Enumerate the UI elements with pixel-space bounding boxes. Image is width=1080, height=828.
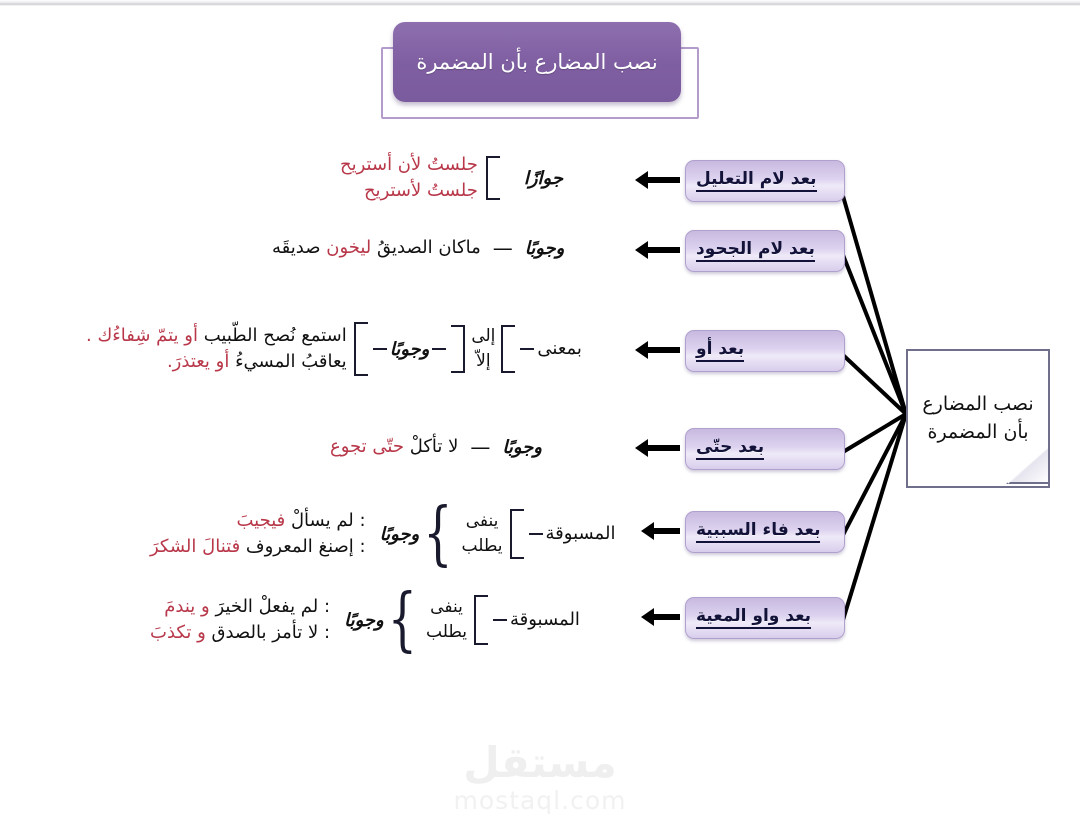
brace-icon: }	[423, 503, 452, 565]
example-part-black: لا تأمز بالصدق	[212, 622, 319, 643]
example-waw-2: : لا تأمز بالصدق و تكذبَ	[150, 620, 330, 646]
brace-icon	[501, 325, 515, 373]
example-part-red: ليخون	[326, 237, 371, 258]
meaning-aw-1: إلى	[471, 324, 495, 350]
ruling-lam-taleel: جوازًا	[524, 168, 563, 189]
example-part-black: إصنغ المعروف	[246, 536, 354, 557]
arrow-lam-juhood-icon	[646, 247, 680, 253]
tick-icon	[520, 348, 534, 350]
brace-icon	[474, 595, 488, 645]
row-faa: المسبوقة ينفى يطلب } وجوبًا : لم يسألْ ف…	[150, 503, 615, 565]
branch-box-aw[interactable]: بعد أو	[685, 330, 845, 372]
branch-label: بعد واو المعية	[696, 606, 811, 629]
condition-faa-1: ينفى	[462, 509, 503, 535]
example-part-black: استمع نُصح الطّبيب	[204, 325, 347, 346]
branch-label: بعد لام الجحود	[696, 239, 815, 262]
example-colon: :	[360, 510, 366, 531]
row-lam-juhood: وجوبًا — ماكان الصديقُ ليخون صديقَه	[272, 233, 564, 263]
row-waw: المسبوقة ينفى يطلب } وجوبًا : لم يفعلْ ا…	[150, 589, 580, 651]
preceded-label-waw: المسبوقة	[510, 607, 580, 633]
arrow-waw-icon	[652, 614, 680, 620]
brace-icon	[354, 322, 368, 376]
example-colon: :	[324, 596, 330, 617]
root-node-label: نصب المضارع بأن المضمرة	[908, 391, 1048, 446]
separator-dash: —	[493, 236, 513, 260]
example-faa-1: : لم يسألْ فيجيبَ	[150, 508, 366, 534]
example-part-red: فيجيبَ	[236, 510, 285, 531]
separator-dash: —	[470, 435, 490, 459]
arrow-faa-icon	[652, 528, 680, 534]
example-part-red: و تكذبَ	[150, 622, 206, 643]
tick-icon	[373, 348, 387, 350]
example-aw-2: يعاقبُ المسيءُ أو يعتذرَ.	[86, 349, 347, 375]
example-waw-1: : لم يفعلْ الخيرَ و يندمَ	[150, 594, 330, 620]
ruling-faa: وجوبًا	[380, 524, 420, 545]
example-part-black: لم يسألْ	[291, 510, 354, 531]
example-colon: :	[324, 622, 330, 643]
example-part-red: حتّى تجوع	[330, 436, 404, 457]
branch-label: بعد لام التعليل	[696, 169, 817, 192]
ruling-waw: وجوبًا	[344, 610, 384, 631]
example-hatta: لا تأكلْ حتّى تجوع	[330, 434, 458, 460]
example-lam-juhood: ماكان الصديقُ ليخون صديقَه	[272, 235, 481, 261]
example-colon: :	[360, 536, 366, 557]
arrow-lam-taleel-icon	[646, 177, 680, 183]
row-hatta: وجوبًا — لا تأكلْ حتّى تجوع	[330, 432, 542, 462]
branch-label: بعد أو	[696, 339, 744, 362]
meaning-label-aw: بمعنى	[537, 336, 582, 362]
condition-faa-2: يطلب	[462, 534, 503, 560]
example-aw-1: استمع نُصح الطّبيب أو يتمّ شِفاءُك .	[86, 323, 347, 349]
branch-box-faa[interactable]: بعد فاء السببية	[685, 511, 845, 553]
brace-icon	[451, 325, 465, 373]
brace-icon	[486, 156, 500, 200]
example-part-red: فتنالَ الشكرَ	[150, 536, 240, 557]
branch-box-lam-juhood[interactable]: بعد لام الجحود	[685, 230, 845, 272]
condition-waw-1: ينفى	[426, 595, 467, 621]
diagram-canvas: نصب المضارع بأن المضمرة نصب المضارع بأن …	[0, 0, 1080, 828]
tick-icon	[493, 619, 507, 621]
example-part-red: أو يعتذرَ.	[167, 351, 229, 372]
arrow-aw-icon	[646, 347, 680, 353]
ruling-aw: وجوبًا	[390, 339, 430, 360]
branch-box-hatta[interactable]: بعد حتّى	[685, 428, 845, 470]
page-title: نصب المضارع بأن المضمرة	[408, 49, 665, 75]
tick-icon	[432, 348, 446, 350]
row-lam-taleel: جوازًا جلستُ لأن أستريح جلستُ لأستريح	[340, 152, 563, 204]
preceded-label-faa: المسبوقة	[546, 521, 616, 547]
title-box: نصب المضارع بأن المضمرة	[393, 22, 681, 102]
example-part-black: لم يفعلْ الخيرَ	[215, 596, 318, 617]
condition-waw-2: يطلب	[426, 620, 467, 646]
row-aw: بمعنى إلى إلاّ وجوبًا استمع نُصح الطّبيب…	[86, 318, 582, 380]
ruling-lam-juhood: وجوبًا	[525, 238, 565, 259]
example-part-red: و يندمَ	[164, 596, 209, 617]
branch-box-waw[interactable]: بعد واو المعية	[685, 597, 845, 639]
example-part-black: ماكان الصديقُ	[377, 237, 481, 258]
example-faa-2: : إصنغ المعروف فتنالَ الشكرَ	[150, 534, 366, 560]
example-lam-taleel-2: جلستُ لأستريح	[340, 178, 478, 204]
example-part-black-2: صديقَه	[272, 237, 321, 258]
arrow-hatta-icon	[646, 445, 680, 451]
branch-box-lam-taleel[interactable]: بعد لام التعليل	[685, 160, 845, 202]
example-part-black: لا تأكلْ	[410, 436, 459, 457]
brace-icon: }	[388, 589, 417, 651]
example-part-black: يعاقبُ المسيءُ	[235, 351, 347, 372]
ruling-hatta: وجوبًا	[502, 437, 542, 458]
tick-icon	[529, 533, 543, 535]
brace-icon	[510, 509, 524, 559]
example-lam-taleel-1: جلستُ لأن أستريح	[340, 152, 478, 178]
branch-label: بعد فاء السببية	[696, 520, 820, 543]
meaning-aw-2: إلاّ	[471, 349, 495, 375]
branch-label: بعد حتّى	[696, 437, 764, 460]
example-part-red: أو يتمّ شِفاءُك .	[86, 325, 198, 346]
